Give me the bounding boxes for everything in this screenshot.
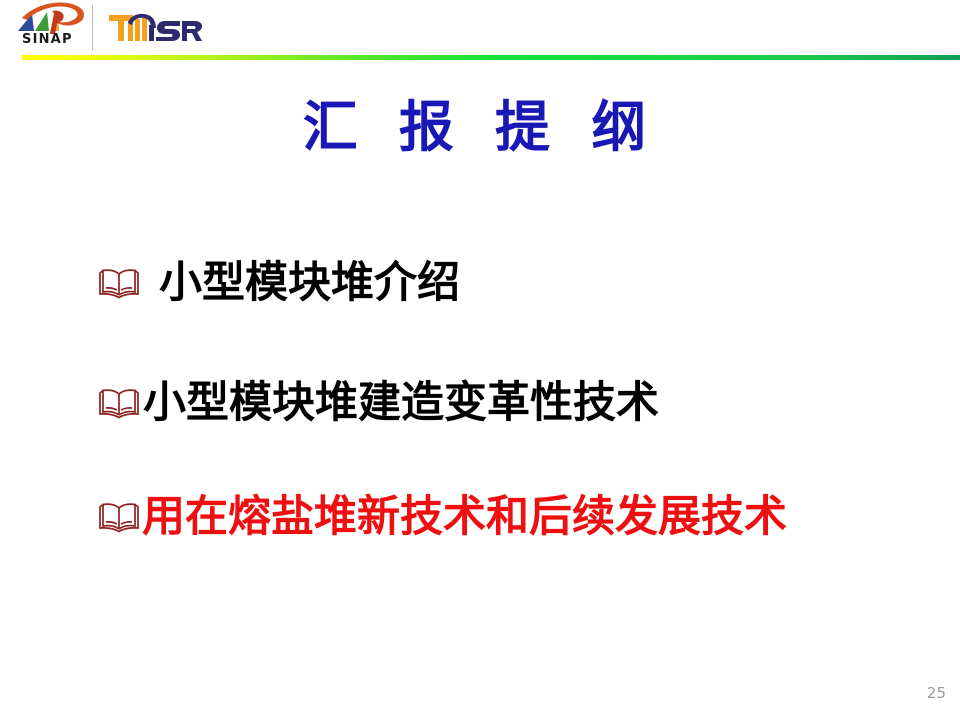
list-item[interactable]: 小型模块堆介绍 [98, 258, 460, 308]
slide-header: SINAP [0, 0, 960, 60]
header-accent-gradient-bar [22, 55, 960, 60]
open-book-icon [98, 386, 140, 420]
sinap-logo: SINAP [16, 1, 88, 51]
sinap-swoosh-logo-icon [16, 1, 88, 35]
list-item-label: 用在熔盐堆新技术和后续发展技术 [142, 492, 787, 542]
open-book-icon [98, 500, 140, 534]
presentation-slide: SINAP 汇 报 提 纲 [0, 0, 960, 713]
tmsr-logo-icon [108, 11, 208, 45]
open-book-icon [98, 266, 140, 300]
header-divider [92, 5, 93, 50]
page-number: 25 [900, 684, 946, 702]
list-item-label: 小型模块堆建造变革性技术 [143, 378, 659, 428]
sinap-wordmark: SINAP [22, 32, 82, 47]
list-item[interactable]: 用在熔盐堆新技术和后续发展技术 [98, 492, 787, 542]
page-title: 汇 报 提 纲 [0, 92, 960, 162]
list-item[interactable]: 小型模块堆建造变革性技术 [98, 378, 659, 428]
list-item-label: 小型模块堆介绍 [159, 258, 460, 308]
